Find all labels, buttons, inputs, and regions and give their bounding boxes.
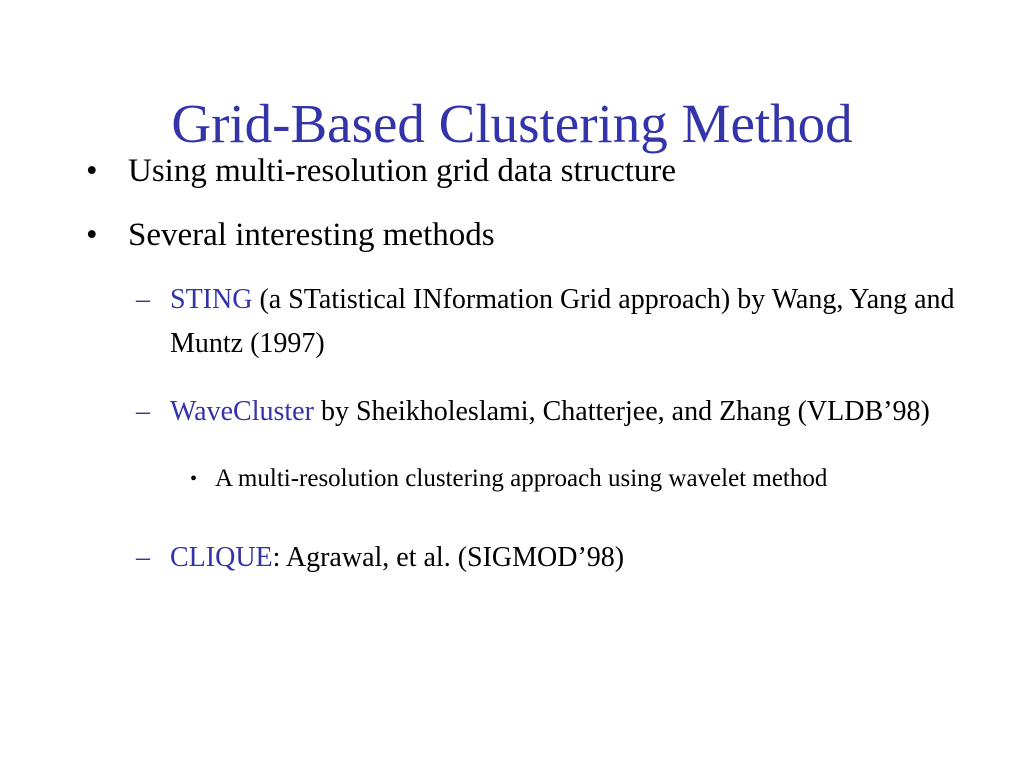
bullet-level2-text: by Sheikholeslami, Chatterjee, and Zhang… — [314, 396, 930, 427]
bullet-dot-icon: • — [86, 150, 110, 192]
bullet-level2-text: (a STatistical INformation Grid approach… — [170, 284, 955, 359]
spacer — [0, 380, 1024, 390]
bullet-dot-icon: • — [190, 458, 212, 500]
bullet-level1-several-methods: • Several interesting methods — [0, 214, 1024, 256]
bullet-level2-sting: – STING (a STatistical INformation Grid … — [0, 278, 980, 366]
spacer — [0, 448, 1024, 458]
page-title: Grid-Based Clustering Method — [0, 93, 1024, 155]
slide-canvas: Grid-Based Clustering Method • Using mul… — [0, 0, 1024, 768]
bullet-level1-text: Several interesting methods — [128, 217, 495, 253]
bullet-dash-icon: – — [136, 278, 162, 322]
bullet-dot-icon: • — [86, 214, 110, 256]
bullet-level3-text: A multi-resolution clustering approach u… — [215, 465, 827, 492]
bullet-level1-using-grid: • Using multi-resolution grid data struc… — [0, 150, 1024, 192]
bullet-level1-text: Using multi-resolution grid data structu… — [128, 153, 676, 189]
spacer — [0, 514, 1024, 536]
bullet-level2-text: : Agrawal, et al. (SIGMOD’98) — [273, 542, 624, 573]
keyword-wavecluster: WaveCluster — [170, 396, 314, 427]
bullet-level3-wavelet-approach: • A multi-resolution clustering approach… — [0, 458, 915, 500]
keyword-sting: STING — [170, 284, 252, 315]
bullet-level2-clique: – CLIQUE: Agrawal, et al. (SIGMOD’98) — [0, 536, 980, 580]
bullet-dash-icon: – — [136, 536, 162, 580]
bullet-level2-wavecluster: – WaveCluster by Sheikholeslami, Chatter… — [0, 390, 980, 434]
bullet-dash-icon: – — [136, 390, 162, 434]
slide-body-content: • Using multi-resolution grid data struc… — [0, 150, 1024, 594]
keyword-clique: CLIQUE — [170, 542, 273, 573]
